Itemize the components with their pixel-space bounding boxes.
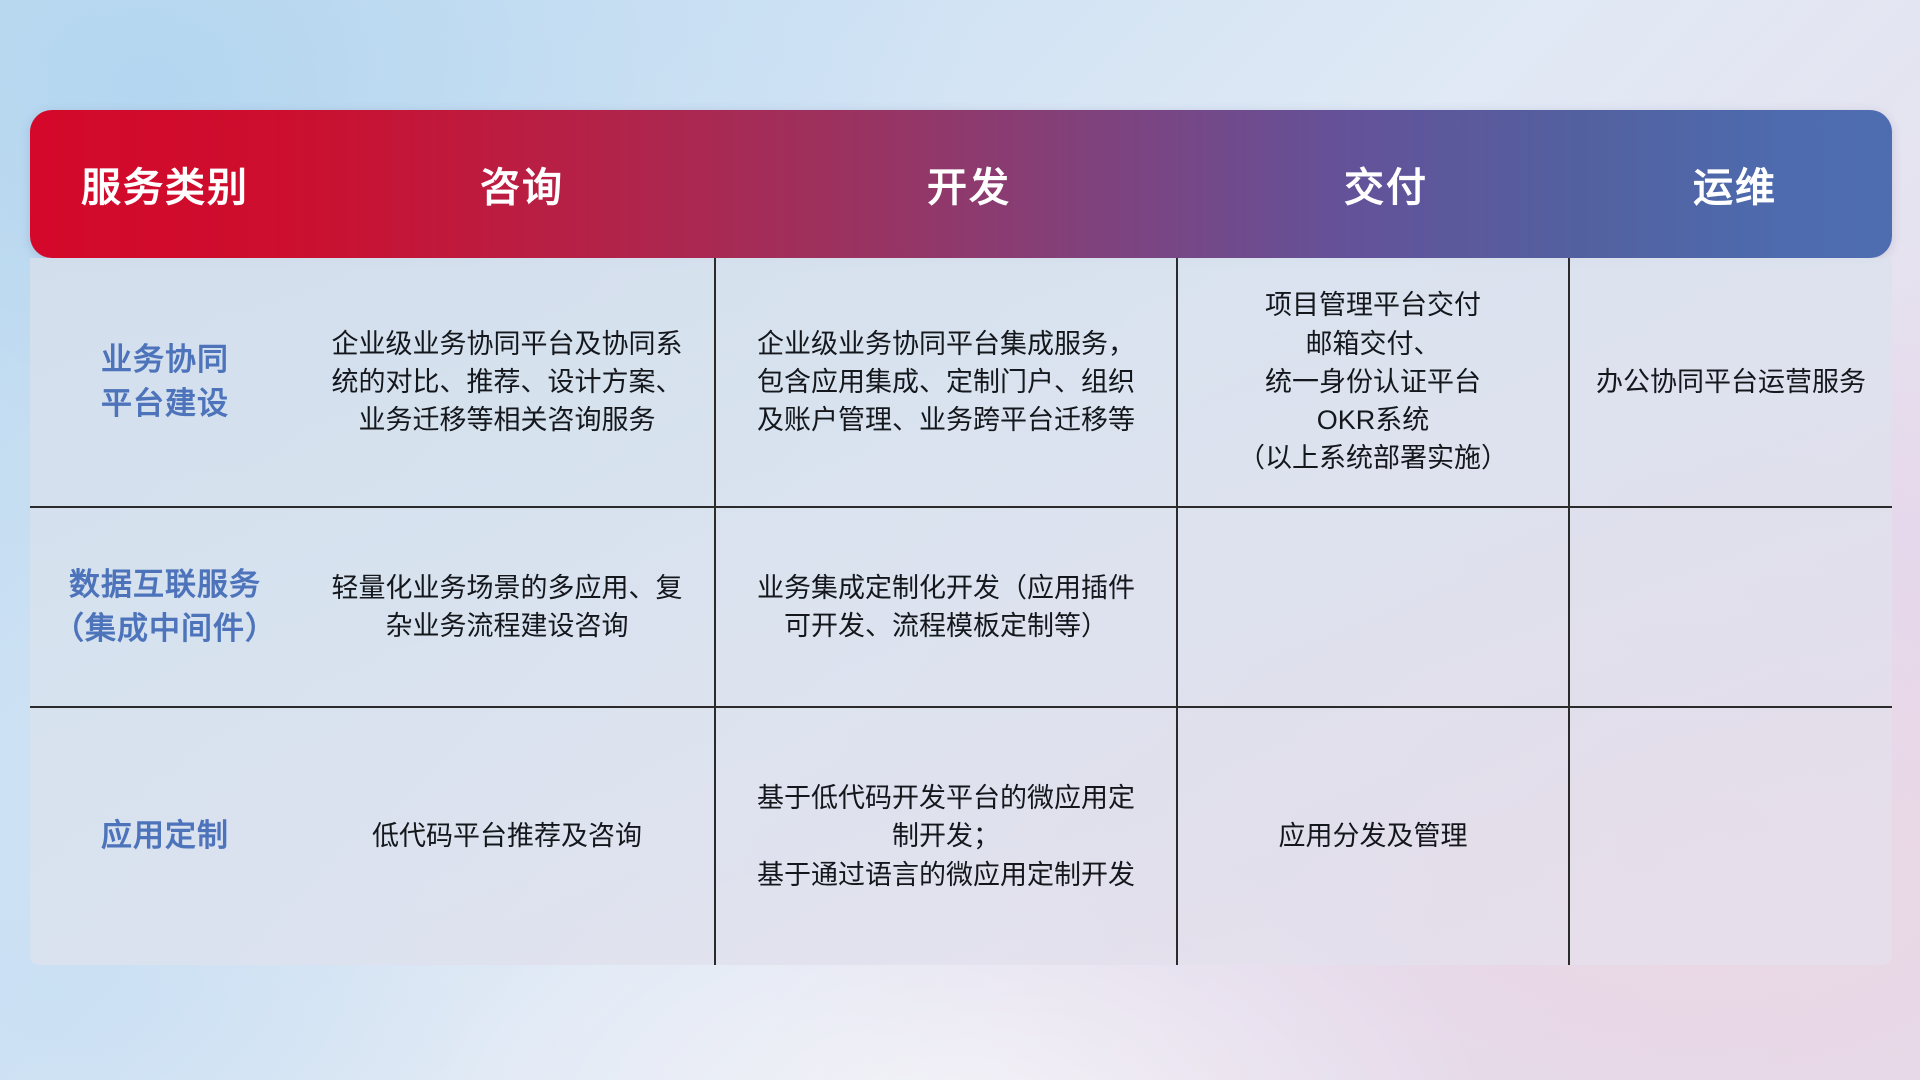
table-cell-operations-1: 办公协同平台运营服务 (1570, 258, 1892, 506)
column-header-development: 开发 (744, 155, 1194, 213)
cell-category-2: 数据互联服务 （集成中间件） (53, 563, 277, 651)
table-cell-consulting-2: 轻量化业务场景的多应用、复 杂业务流程建设咨询 (300, 508, 714, 706)
cell-text-delivery-3: 应用分发及管理 (1279, 817, 1468, 855)
cell-text-operations-1: 办公协同平台运营服务 (1596, 363, 1866, 401)
table-cell-consulting-3: 低代码平台推荐及咨询 (300, 708, 714, 965)
cell-category-3: 应用定制 (101, 814, 229, 858)
cell-text-consulting-1: 企业级业务协同平台及协同系 统的对比、推荐、设计方案、 业务迁移等相关咨询服务 (332, 325, 683, 440)
column-header-operations: 运维 (1578, 155, 1892, 213)
table-row: 应用定制 (30, 708, 300, 965)
table-row: 业务协同 平台建设 (30, 258, 300, 506)
table-header-row: 服务类别 咨询 开发 交付 运维 (30, 110, 1892, 258)
table-cell-delivery-1: 项目管理平台交付 邮箱交付、 统一身份认证平台 OKR系统 （以上系统部署实施） (1178, 258, 1568, 506)
column-header-consulting: 咨询 (300, 155, 744, 213)
table-cell-development-1: 企业级业务协同平台集成服务， 包含应用集成、定制门户、组织 及账户管理、业务跨平… (716, 258, 1176, 506)
table-body-panel: 业务协同 平台建设 企业级业务协同平台及协同系 统的对比、推荐、设计方案、 业务… (30, 258, 1892, 965)
table-row: 数据互联服务 （集成中间件） (30, 508, 300, 706)
cell-text-development-2: 业务集成定制化开发（应用插件 可开发、流程模板定制等） (757, 569, 1135, 646)
column-header-delivery: 交付 (1194, 155, 1578, 213)
cell-text-consulting-3: 低代码平台推荐及咨询 (372, 817, 642, 855)
table-cell-delivery-2 (1178, 508, 1568, 706)
table-cell-operations-3 (1570, 708, 1892, 965)
table-cell-operations-2 (1570, 508, 1892, 706)
cell-text-consulting-2: 轻量化业务场景的多应用、复 杂业务流程建设咨询 (332, 569, 683, 646)
cell-category-1: 业务协同 平台建设 (101, 338, 229, 426)
service-matrix-table: 服务类别 咨询 开发 交付 运维 业务协同 平台建设 企业级业务协同平台及协同系… (30, 110, 1892, 965)
cell-text-development-3: 基于低代码开发平台的微应用定 制开发； 基于通过语言的微应用定制开发 (757, 779, 1135, 894)
cell-text-development-1: 企业级业务协同平台集成服务， 包含应用集成、定制门户、组织 及账户管理、业务跨平… (757, 325, 1135, 440)
table-cell-delivery-3: 应用分发及管理 (1178, 708, 1568, 965)
table-cell-development-2: 业务集成定制化开发（应用插件 可开发、流程模板定制等） (716, 508, 1176, 706)
table-cell-development-3: 基于低代码开发平台的微应用定 制开发； 基于通过语言的微应用定制开发 (716, 708, 1176, 965)
column-header-category: 服务类别 (30, 155, 300, 213)
table-cell-consulting-1: 企业级业务协同平台及协同系 统的对比、推荐、设计方案、 业务迁移等相关咨询服务 (300, 258, 714, 506)
cell-text-delivery-1: 项目管理平台交付 邮箱交付、 统一身份认证平台 OKR系统 （以上系统部署实施） (1238, 286, 1508, 478)
